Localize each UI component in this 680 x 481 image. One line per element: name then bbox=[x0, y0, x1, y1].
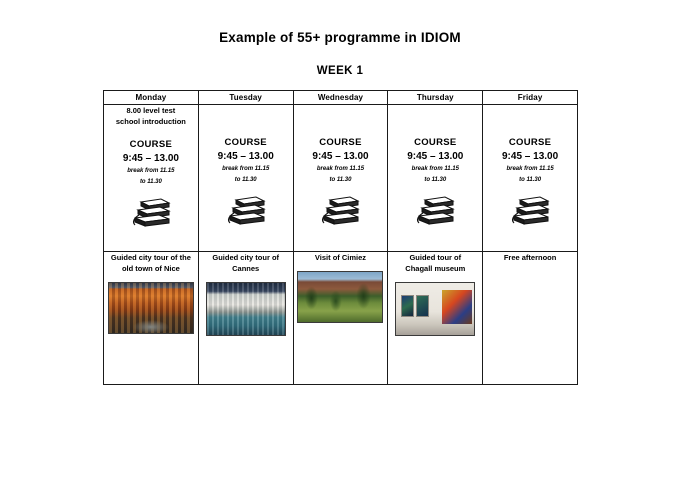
column-header-friday: Friday bbox=[483, 91, 578, 105]
book-stack-icon bbox=[388, 192, 482, 232]
activity-row: Guided city tour of the old town of Nice… bbox=[104, 252, 578, 385]
cannes-waterfront-photo bbox=[206, 282, 286, 336]
activity-label-line-1: Guided tour of bbox=[388, 252, 482, 263]
activity-cell-tuesday: Guided city tour of Cannes bbox=[198, 252, 293, 385]
course-time: 9:45 – 13.00 bbox=[294, 151, 388, 162]
course-break-line-1: break from 11.15 bbox=[199, 165, 293, 173]
school-introduction-line: school introduction bbox=[104, 116, 198, 127]
activity-label-line-1: Guided city tour of the bbox=[104, 252, 198, 263]
cimiez-villa-photo bbox=[297, 271, 383, 323]
book-stack-icon bbox=[199, 192, 293, 232]
activity-label-line-1: Guided city tour of bbox=[199, 252, 293, 263]
book-stack-icon bbox=[483, 192, 577, 232]
painting-thumb-middle bbox=[416, 295, 429, 317]
course-label: COURSE bbox=[104, 139, 198, 150]
course-label: COURSE bbox=[483, 137, 577, 148]
course-label: COURSE bbox=[294, 137, 388, 148]
activity-label-line-1: Visit of Cimiez bbox=[294, 252, 388, 263]
column-header-thursday: Thursday bbox=[388, 91, 483, 105]
activity-label-line-2: Cannes bbox=[199, 263, 293, 274]
activity-label-line-2: old town of Nice bbox=[104, 263, 198, 274]
course-time: 9:45 – 13.00 bbox=[388, 151, 482, 162]
course-cell-thursday: COURSE 9:45 – 13.00 break from 11.15 to … bbox=[388, 105, 483, 252]
painting-thumb-left bbox=[401, 295, 414, 317]
activity-label-line-1: Free afternoon bbox=[483, 252, 577, 263]
activity-cell-monday: Guided city tour of the old town of Nice bbox=[104, 252, 199, 385]
column-header-tuesday: Tuesday bbox=[198, 91, 293, 105]
course-cell-wednesday: COURSE 9:45 – 13.00 break from 11.15 to … bbox=[293, 105, 388, 252]
course-break-line-1: break from 11.15 bbox=[483, 165, 577, 173]
book-stack-icon bbox=[294, 192, 388, 232]
activity-cell-friday: Free afternoon bbox=[483, 252, 578, 385]
course-break-line-2: to 11.30 bbox=[104, 178, 198, 186]
course-time: 9:45 – 13.00 bbox=[483, 151, 577, 162]
nice-old-town-photo bbox=[108, 282, 194, 334]
week-subtitle: WEEK 1 bbox=[0, 65, 680, 77]
weekly-schedule-table: Monday Tuesday Wednesday Thursday Friday… bbox=[103, 90, 578, 385]
course-cell-friday: COURSE 9:45 – 13.00 break from 11.15 to … bbox=[483, 105, 578, 252]
course-break-line-1: break from 11.15 bbox=[388, 165, 482, 173]
course-break-line-2: to 11.30 bbox=[483, 176, 577, 184]
chagall-museum-photo bbox=[395, 282, 475, 336]
level-test-line: 8.00 level test bbox=[104, 105, 198, 116]
activity-label-line-2: Chagall museum bbox=[388, 263, 482, 274]
table-header-row: Monday Tuesday Wednesday Thursday Friday bbox=[104, 91, 578, 105]
column-header-monday: Monday bbox=[104, 91, 199, 105]
course-time: 9:45 – 13.00 bbox=[199, 151, 293, 162]
column-header-wednesday: Wednesday bbox=[293, 91, 388, 105]
course-label: COURSE bbox=[199, 137, 293, 148]
course-break-line-2: to 11.30 bbox=[388, 176, 482, 184]
course-break-line-2: to 11.30 bbox=[294, 176, 388, 184]
activity-cell-wednesday: Visit of Cimiez bbox=[293, 252, 388, 385]
page-title: Example of 55+ programme in IDIOM bbox=[0, 30, 680, 45]
book-stack-icon bbox=[104, 194, 198, 234]
activity-cell-thursday: Guided tour of Chagall museum bbox=[388, 252, 483, 385]
course-cell-tuesday: COURSE 9:45 – 13.00 break from 11.15 to … bbox=[198, 105, 293, 252]
course-row: 8.00 level test school introduction COUR… bbox=[104, 105, 578, 252]
course-cell-monday: 8.00 level test school introduction COUR… bbox=[104, 105, 199, 252]
course-label: COURSE bbox=[388, 137, 482, 148]
course-break-line-1: break from 11.15 bbox=[294, 165, 388, 173]
course-break-line-2: to 11.30 bbox=[199, 176, 293, 184]
course-break-line-1: break from 11.15 bbox=[104, 167, 198, 175]
course-time: 9:45 – 13.00 bbox=[104, 153, 198, 164]
